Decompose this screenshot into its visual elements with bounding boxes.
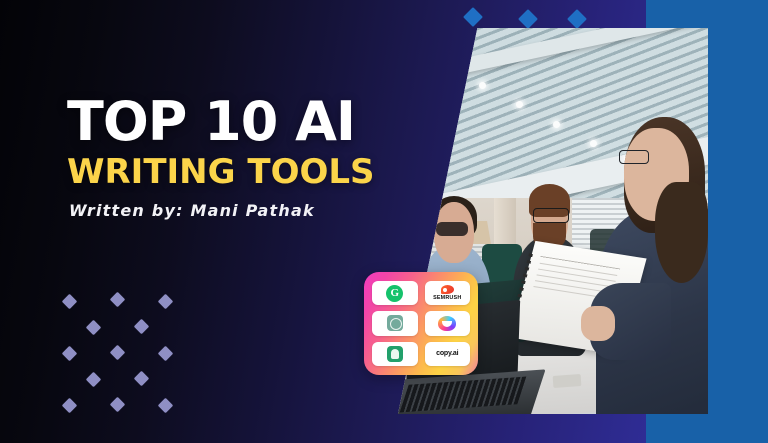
- diamond-icon: [158, 294, 174, 310]
- chatgpt-icon: [387, 315, 403, 331]
- tool-chip-copyai[interactable]: copy.ai: [425, 342, 471, 366]
- diamond-icon: [62, 294, 78, 310]
- diamond-icon: [62, 346, 78, 362]
- ai-tools-card: G SEMRUSH copy.ai: [364, 272, 478, 375]
- tool-chip-quillbot[interactable]: [372, 342, 418, 366]
- quillbot-icon: [387, 346, 403, 362]
- top-diamond-icon: [518, 9, 538, 29]
- diamond-icon: [110, 397, 126, 413]
- eyeglasses-icon: [619, 150, 649, 164]
- diamond-icon: [62, 398, 78, 414]
- top-diamond-icon: [567, 9, 587, 29]
- tool-chip-jasper[interactable]: [425, 311, 471, 335]
- ceiling-lamp: [479, 82, 486, 89]
- top-diamond-icon: [463, 7, 483, 27]
- sunglasses-icon: [436, 222, 469, 236]
- grammarly-icon: G: [386, 285, 403, 302]
- diamond-icon: [158, 346, 174, 362]
- person-right-hand: [581, 306, 615, 341]
- diamond-icon: [158, 398, 174, 414]
- ceiling-lamp: [553, 121, 560, 128]
- copyai-wordmark: copy.ai: [436, 350, 458, 357]
- jasper-icon: [438, 316, 456, 331]
- page-title: TOP 10 AI: [67, 96, 397, 147]
- diamond-icon: [134, 371, 150, 387]
- semrush-logo: SEMRUSH: [433, 285, 461, 301]
- byline: Written by: Mani Pathak: [69, 201, 397, 220]
- page-subtitle: WRITING TOOLS: [67, 155, 397, 189]
- tool-chip-chatgpt[interactable]: [372, 311, 418, 335]
- thumbnail-canvas: G SEMRUSH copy.ai TOP 10 AI WRITING TOOL…: [0, 0, 768, 443]
- semrush-wordmark: SEMRUSH: [433, 295, 461, 301]
- person-right-hair: [655, 182, 708, 282]
- tool-chip-grammarly[interactable]: G: [372, 281, 418, 305]
- diamond-icon: [110, 292, 126, 308]
- semrush-icon: [441, 285, 454, 294]
- diamond-grid-decoration: [60, 288, 190, 413]
- eyeglasses-icon: [533, 208, 569, 223]
- diamond-icon: [110, 345, 126, 361]
- diamond-icon: [86, 372, 102, 388]
- phone-on-table: [553, 374, 582, 387]
- diamond-icon: [86, 320, 102, 336]
- diamond-icon: [134, 319, 150, 335]
- headline-block: TOP 10 AI WRITING TOOLS Written by: Mani…: [67, 96, 397, 220]
- tool-chip-semrush[interactable]: SEMRUSH: [425, 281, 471, 305]
